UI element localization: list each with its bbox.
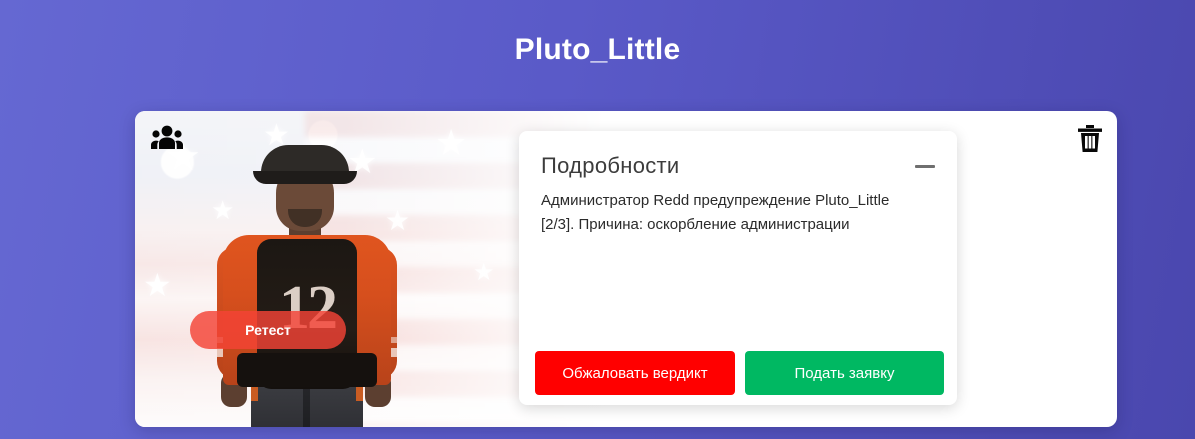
character-waist	[237, 353, 377, 387]
details-header: Подробности	[541, 151, 935, 181]
details-body-text: Администратор Redd предупреждение Pluto_…	[541, 189, 921, 237]
character-hat	[261, 145, 349, 179]
details-panel: Подробности Администратор Redd предупреж…	[519, 131, 957, 405]
users-group-icon[interactable]	[151, 124, 183, 152]
profile-card: ★ ★ ★ ★ ★ ★ ★ ★ ★ ★ 12 Подробности	[135, 111, 1117, 427]
details-title: Подробности	[541, 153, 680, 179]
trash-icon[interactable]	[1077, 124, 1103, 154]
submit-application-button[interactable]: Подать заявку	[745, 351, 944, 395]
character-avatar: 12	[175, 127, 435, 427]
page-title: Pluto_Little	[0, 30, 1195, 70]
retest-button[interactable]: Ретест	[190, 311, 346, 349]
appeal-verdict-button[interactable]: Обжаловать вердикт	[535, 351, 735, 395]
details-actions: Обжаловать вердикт Подать заявку	[535, 351, 944, 395]
minimize-dash-icon[interactable]	[915, 156, 935, 176]
